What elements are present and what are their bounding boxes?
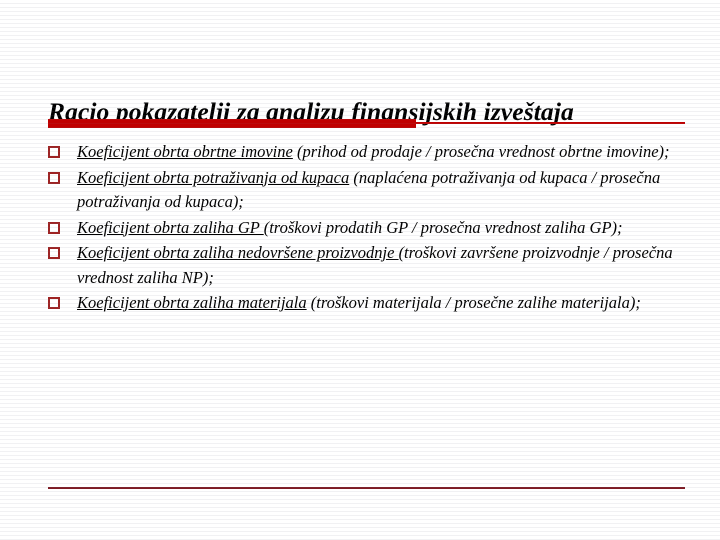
list-item: Koeficijent obrta zaliha nedovršene proi… bbox=[48, 241, 688, 290]
list-item: Koeficijent obrta zaliha materijala (tro… bbox=[48, 291, 688, 316]
list-item-term: Koeficijent obrta potraživanja od kupaca bbox=[77, 168, 349, 187]
list-item-term: Koeficijent obrta zaliha GP bbox=[77, 218, 264, 237]
hollow-square-bullet-icon bbox=[48, 172, 60, 184]
hollow-square-bullet-icon bbox=[48, 297, 60, 309]
list-item: Koeficijent obrta obrtne imovine (prihod… bbox=[48, 140, 688, 165]
presentation-slide: Racio pokazatelji za analizu finansijski… bbox=[0, 0, 720, 540]
hollow-square-bullet-icon bbox=[48, 247, 60, 259]
list-item-text: Koeficijent obrta potraživanja od kupaca… bbox=[77, 166, 688, 215]
list-item-term: Koeficijent obrta zaliha nedovršene proi… bbox=[77, 243, 399, 262]
list-item: Koeficijent obrta potraživanja od kupaca… bbox=[48, 166, 688, 215]
title-thick-rule bbox=[48, 119, 416, 128]
list-item-text: Koeficijent obrta zaliha nedovršene proi… bbox=[77, 241, 688, 290]
list-item-text: Koeficijent obrta zaliha GP (troškovi pr… bbox=[77, 216, 688, 241]
list-item-term: Koeficijent obrta zaliha materijala bbox=[77, 293, 307, 312]
list-item-term: Koeficijent obrta obrtne imovine bbox=[77, 142, 293, 161]
list-item-text: Koeficijent obrta zaliha materijala (tro… bbox=[77, 291, 688, 316]
bullet-list: Koeficijent obrta obrtne imovine (prihod… bbox=[48, 140, 688, 317]
hollow-square-bullet-icon bbox=[48, 146, 60, 158]
list-item: Koeficijent obrta zaliha GP (troškovi pr… bbox=[48, 216, 688, 241]
list-item-description: (troškovi materijala / prosečne zalihe m… bbox=[307, 293, 641, 312]
footer-rule bbox=[48, 487, 685, 489]
hollow-square-bullet-icon bbox=[48, 222, 60, 234]
title-accent-rules bbox=[48, 119, 685, 128]
list-item-description: (prihod od prodaje / prosečna vrednost o… bbox=[293, 142, 670, 161]
list-item-description: (troškovi prodatih GP / prosečna vrednos… bbox=[264, 218, 623, 237]
list-item-text: Koeficijent obrta obrtne imovine (prihod… bbox=[77, 140, 688, 165]
